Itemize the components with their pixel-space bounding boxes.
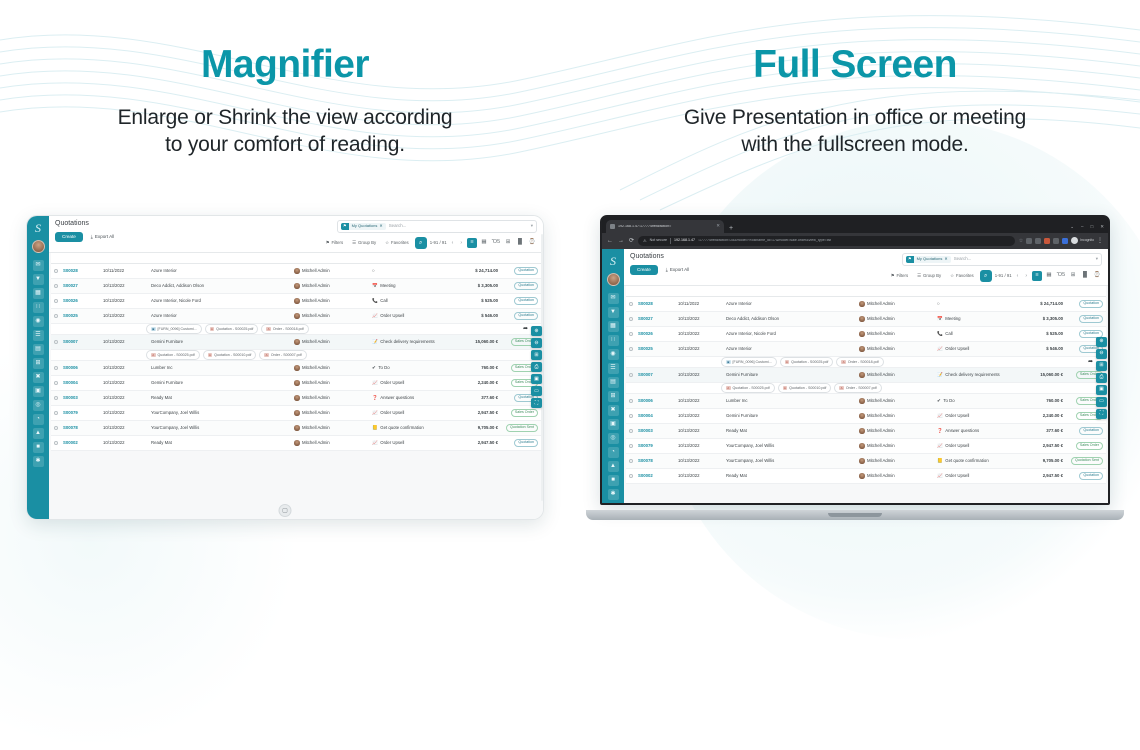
app-sidebar[interactable]: S ✉▼▦∷◉☰▤⊞✖▣◎◔▲■✱ — [602, 249, 624, 505]
group-by-label: Group By — [358, 241, 376, 245]
row-checkbox[interactable] — [629, 474, 638, 478]
sidebar-item-sales[interactable]: ✱ — [33, 456, 44, 467]
cell-number[interactable]: S00027 — [638, 316, 678, 321]
row-checkbox[interactable] — [54, 426, 63, 430]
close-icon[interactable]: ✕ — [379, 224, 382, 228]
cell-next-activity[interactable]: 📈Order Upsell — [372, 440, 450, 445]
sidebar-item-messages[interactable]: ✉ — [33, 260, 44, 271]
attachment-row: AQuotation - S00025.pdfAQuotation - S000… — [626, 383, 1106, 394]
pager: 1-91 / 91 — [995, 274, 1012, 278]
cell-total: $ 525.00 — [450, 298, 498, 303]
list-view-button[interactable]: ≡ — [1032, 271, 1042, 281]
cell-next-activity[interactable]: 📈Order Upsell — [372, 410, 450, 415]
magnifier-toolbar: ⊕⊖⊞⎙▣▭⛶ — [531, 326, 542, 408]
cell-number[interactable]: S00026 — [638, 331, 678, 336]
row-checkbox[interactable] — [54, 314, 63, 318]
search-input[interactable]: Search... — [954, 257, 1093, 261]
control-panel-actions: ⚑ Filters ☰ Group By ☆ Favorites — [337, 237, 537, 249]
row-checkbox[interactable] — [629, 373, 638, 377]
activity-view-button[interactable]: ⌚ — [1092, 271, 1102, 281]
checkbox-icon — [54, 366, 58, 370]
sidebar-item-employees[interactable]: ▲ — [33, 428, 44, 439]
cell-next-activity[interactable]: 📝Check delivery requirements — [937, 372, 1015, 377]
extension-icon[interactable] — [1026, 238, 1032, 244]
kanban-view-button[interactable]: ▦ — [479, 238, 489, 248]
table-row[interactable]: S0002810/11/2022Azure InteriorMitchell A… — [51, 264, 541, 279]
table-row[interactable]: S0000310/13/2022Ready MatMitchell Admin❓… — [626, 424, 1106, 439]
table-row[interactable]: S0002710/13/2022Deco Addict, Addison Ols… — [626, 312, 1106, 327]
pager-next-button[interactable]: › — [1023, 273, 1029, 279]
sidebar-item-contacts[interactable]: ☰ — [33, 330, 44, 341]
cell-next-activity[interactable]: 📒Get quote confirmation — [372, 425, 450, 430]
cell-number[interactable]: S00004 — [638, 413, 678, 418]
zoom-out-button[interactable]: ⊖ — [1096, 349, 1107, 359]
activity-view-button[interactable]: ⌚ — [527, 238, 537, 248]
cell-number[interactable]: S00079 — [638, 443, 678, 448]
cell-total: 15,060.00 € — [1015, 372, 1063, 377]
row-checkbox[interactable] — [54, 284, 63, 288]
grid-size-button[interactable]: ⊞ — [1096, 361, 1107, 371]
activity-icon: 📝 — [372, 340, 378, 345]
print-button[interactable]: ⎙ — [1096, 373, 1107, 383]
salesperson-name: Mitchell Admin — [867, 331, 895, 336]
favorites-button[interactable]: ☆ Favorites — [382, 239, 412, 247]
record-link[interactable]: S00003 — [638, 428, 653, 433]
sidebar-item-inventory[interactable]: ⊞ — [33, 358, 44, 369]
avatar — [294, 283, 300, 289]
graph-view-button[interactable]: █ — [515, 238, 525, 248]
cell-next-activity[interactable]: ❓Answer questions — [372, 395, 450, 400]
browser-url-bar: ← → ⟳ ⚠ Not secure 192.168.1.47 :17777/w… — [602, 233, 1108, 249]
avatar[interactable] — [32, 240, 45, 253]
reload-icon[interactable]: ⟳ — [629, 238, 634, 244]
pager: 1-91 / 91 — [430, 241, 447, 245]
record-link[interactable]: S00026 — [638, 331, 653, 336]
extension-icon[interactable] — [1053, 238, 1059, 244]
cell-status: Quotation — [498, 312, 538, 321]
calendar-view-button[interactable]: Ὄ5 — [1056, 271, 1066, 281]
cell-next-activity[interactable]: 📅Meeting — [372, 283, 450, 288]
screenshot-button[interactable]: ▣ — [531, 374, 542, 384]
magnifier-button[interactable]: ⌕ — [980, 270, 992, 282]
attachment-chip[interactable]: AQuotation - S00010.pdf — [778, 383, 832, 393]
row-checkbox[interactable] — [629, 429, 638, 433]
sidebar-item-inventory[interactable]: ⊞ — [608, 391, 619, 402]
sidebar-item-filter[interactable]: ▼ — [33, 274, 44, 285]
browser-tab[interactable]: 192.168.1.47:17777/web#action= ✕ — [606, 220, 724, 233]
sidebar-item-website[interactable]: ■ — [33, 442, 44, 453]
table-row[interactable]: S0007810/13/2022YourCompany, Joel Willis… — [51, 421, 541, 436]
activity-icon: 📒 — [372, 426, 378, 431]
cell-next-activity[interactable]: 📈Order Upsell — [372, 313, 450, 318]
attachment-chip[interactable]: AQuotation - S00025.pdf — [205, 324, 259, 334]
record-link[interactable]: S00079 — [63, 410, 78, 415]
cell-creation-date: 10/13/2022 — [103, 440, 151, 445]
sidebar-item-documents[interactable]: ▤ — [33, 344, 44, 355]
table-row[interactable]: S0000410/13/2022Gemini FurnitureMitchell… — [51, 376, 541, 391]
search-bar[interactable]: ⚑ My Quotations ✕ Search... ▾ — [337, 220, 537, 233]
activity-icon: 📈 — [372, 314, 378, 319]
table-row[interactable]: S0007810/13/2022YourCompany, Joel Willis… — [626, 454, 1106, 469]
record-link[interactable]: S00027 — [63, 283, 78, 288]
table-row[interactable]: S0002610/13/2022Azure Interior, Nicole F… — [51, 294, 541, 309]
extension-icon[interactable] — [1062, 238, 1068, 244]
group-by-button[interactable]: ☰ Group By — [349, 239, 379, 247]
record-link[interactable]: S00004 — [63, 380, 78, 385]
search-facet-my-quotations[interactable]: ⚑ My Quotations ✕ — [906, 256, 951, 263]
attachment-chip[interactable]: AOrder - S00018.pdf — [836, 357, 883, 367]
row-checkbox[interactable] — [629, 459, 638, 463]
cell-next-activity[interactable]: 📈Order Upsell — [937, 413, 1015, 418]
employees-icon: ▲ — [35, 430, 41, 436]
table-row[interactable]: S0000710/13/2022Gemini FurnitureMitchell… — [626, 368, 1106, 383]
cell-next-activity[interactable]: ✔To Do — [372, 365, 450, 370]
record-link[interactable]: S00006 — [638, 398, 653, 403]
cell-number[interactable]: S00078 — [63, 425, 103, 430]
cell-number[interactable]: S00026 — [63, 298, 103, 303]
activity-icon: 📈 — [937, 414, 943, 419]
favorites-button[interactable]: ☆ Favorites — [947, 272, 977, 280]
checkbox-icon — [629, 459, 633, 463]
url-host: 192.168.1.47 — [674, 239, 695, 243]
record-link[interactable]: S00026 — [63, 298, 78, 303]
attachment-chip[interactable]: AQuotation - S00025.pdf — [721, 383, 775, 393]
row-checkbox[interactable] — [629, 399, 638, 403]
cell-next-activity[interactable]: ○ — [937, 302, 1015, 307]
close-window-icon[interactable]: ✕ — [1100, 225, 1104, 230]
row-checkbox[interactable] — [629, 332, 638, 336]
row-checkbox[interactable] — [54, 441, 63, 445]
sidebar-item-invoicing[interactable]: ◎ — [608, 433, 619, 444]
create-button[interactable]: Create — [630, 265, 658, 276]
cell-customer: Lumber Inc — [726, 398, 859, 403]
maximize-icon[interactable]: □ — [1091, 225, 1094, 230]
cell-creation-date: 10/13/2022 — [678, 473, 726, 478]
cell-creation-date: 10/13/2022 — [103, 425, 151, 430]
cell-next-activity[interactable]: 📒Get quote confirmation — [937, 458, 1015, 463]
sidebar-item-sales[interactable]: ✱ — [608, 489, 619, 500]
table-row[interactable]: S0000210/13/2022Ready MatMitchell Admin📈… — [626, 469, 1106, 484]
sidebar-item-filter[interactable]: ▼ — [608, 307, 619, 318]
cell-status: Quotation — [1063, 472, 1103, 481]
omnibox[interactable]: ⚠ Not secure 192.168.1.47 :17777/web#act… — [638, 236, 1015, 246]
record-link[interactable]: S00007 — [638, 372, 653, 377]
table-row[interactable]: S0007910/13/2022YourCompany, Joel Willis… — [51, 406, 541, 421]
cell-creation-date: 10/13/2022 — [678, 443, 726, 448]
record-link[interactable]: S00002 — [63, 440, 78, 445]
pager-next-button[interactable]: › — [458, 240, 464, 246]
minimize-icon[interactable]: – — [1081, 225, 1084, 230]
cell-next-activity[interactable]: 📅Meeting — [937, 316, 1015, 321]
attachment-chip[interactable]: AOrder - S00018.pdf — [261, 324, 308, 334]
group-by-label: Group By — [923, 274, 941, 278]
create-button[interactable]: Create — [55, 232, 83, 243]
browser-tab-bar: 192.168.1.47:17777/web#action= ✕ + ⌄ – □… — [602, 217, 1108, 233]
sidebar-item-apps[interactable]: ∷ — [608, 335, 619, 346]
pager-prev-button[interactable]: ‹ — [450, 240, 456, 246]
record-link[interactable]: S00006 — [63, 365, 78, 370]
attachment-chip[interactable]: AQuotation - S00025.pdf — [780, 357, 834, 367]
cell-number[interactable]: S00002 — [638, 473, 678, 478]
sidebar-item-calendar[interactable]: ▦ — [33, 288, 44, 299]
search-facet-my-quotations[interactable]: ⚑ My Quotations ✕ — [341, 223, 386, 230]
cell-number[interactable]: S00002 — [63, 440, 103, 445]
zoom-out-button[interactable]: ⊖ — [531, 338, 542, 348]
avatar — [294, 425, 300, 431]
row-checkbox[interactable] — [629, 347, 638, 351]
cell-number[interactable]: S00027 — [63, 283, 103, 288]
sidebar-item-reports[interactable]: ▣ — [608, 419, 619, 430]
chevron-down-icon[interactable]: ▾ — [531, 223, 533, 229]
attachment-chip[interactable]: AQuotation - S00010.pdf — [203, 350, 257, 360]
row-checkbox[interactable] — [629, 317, 638, 321]
settings-icon: ✖ — [610, 407, 615, 413]
browser-nav-buttons: ← → ⟳ — [607, 238, 634, 244]
search-bar[interactable]: ⚑ My Quotations ✕ Search... ▾ — [902, 253, 1102, 266]
row-checkbox[interactable] — [629, 302, 638, 306]
table-row[interactable]: S0000710/13/2022Gemini FurnitureMitchell… — [51, 335, 541, 350]
table-row[interactable]: S0000610/13/2022Lumber IncMitchell Admin… — [51, 361, 541, 376]
salesperson-name: Mitchell Admin — [867, 301, 895, 306]
close-icon[interactable]: ✕ — [716, 224, 720, 229]
close-icon[interactable]: ✕ — [944, 257, 947, 261]
cell-customer: Gemini Furniture — [726, 372, 859, 377]
calendar-view-button[interactable]: Ὄ5 — [491, 238, 501, 248]
extension-icon[interactable] — [1044, 238, 1050, 244]
record-link[interactable]: S00003 — [63, 395, 78, 400]
presentation-button[interactable]: ▭ — [1096, 397, 1107, 407]
record-link[interactable]: S00079 — [638, 443, 653, 448]
sidebar-item-employees[interactable]: ▲ — [608, 461, 619, 472]
checkbox-icon — [629, 347, 633, 351]
activity-label: Order Upsell — [945, 413, 969, 418]
cell-number[interactable]: S00007 — [638, 372, 678, 377]
table-row[interactable]: S0000410/13/2022Gemini FurnitureMitchell… — [626, 409, 1106, 424]
sales-icon: ✱ — [35, 458, 40, 464]
sidebar-item-discuss[interactable]: ◉ — [33, 316, 44, 327]
breadcrumb[interactable]: Quotations — [630, 253, 693, 261]
table-row[interactable]: S0002510/13/2022Azure InteriorMitchell A… — [626, 342, 1106, 357]
record-link[interactable]: S00027 — [638, 316, 653, 321]
avatar[interactable] — [607, 273, 620, 286]
sidebar-item-documents[interactable]: ▤ — [608, 377, 619, 388]
cell-number[interactable]: S00025 — [63, 313, 103, 318]
sidebar-item-settings[interactable]: ✖ — [33, 372, 44, 383]
record-link[interactable]: S00025 — [638, 346, 653, 351]
cell-next-activity[interactable]: 📝Check delivery requirements — [372, 339, 450, 344]
pivot-view-button[interactable]: ⊞ — [1068, 271, 1078, 281]
profile-chip[interactable]: Incognito — [1071, 237, 1094, 244]
pager-prev-button[interactable]: ‹ — [1015, 273, 1021, 279]
filters-button[interactable]: ⚑ Filters — [323, 239, 347, 247]
activity-label: Answer questions — [945, 428, 979, 433]
group-by-button[interactable]: ☰ Group By — [914, 272, 944, 280]
cell-next-activity[interactable]: 📈Order Upsell — [372, 380, 450, 385]
avatar — [294, 313, 300, 319]
record-link[interactable]: S00028 — [63, 268, 78, 273]
checkbox-icon — [629, 302, 633, 306]
table-row[interactable]: S0002710/13/2022Deco Addict, Addison Ols… — [51, 279, 541, 294]
filters-button[interactable]: ⚑ Filters — [888, 272, 912, 280]
cell-next-activity[interactable]: ✔To Do — [937, 398, 1015, 403]
table-row[interactable]: S0002810/11/2022Azure InteriorMitchell A… — [626, 297, 1106, 312]
avatar — [294, 395, 300, 401]
sidebar-item-apps[interactable]: ∷ — [33, 302, 44, 313]
checkbox-icon — [54, 441, 58, 445]
grid-size-button[interactable]: ⊞ — [531, 350, 542, 360]
row-checkbox[interactable] — [54, 366, 63, 370]
feature-subtitle-line2: with the fullscreen mode. — [570, 131, 1140, 159]
salesperson-name: Mitchell Admin — [302, 298, 330, 303]
chevron-down-icon[interactable]: ▾ — [1096, 256, 1098, 262]
row-checkbox[interactable] — [54, 396, 63, 400]
row-checkbox[interactable] — [54, 411, 63, 415]
salesperson-name: Mitchell Admin — [302, 410, 330, 415]
fullscreen-button[interactable]: ⛶ — [531, 398, 542, 408]
avatar — [859, 316, 865, 322]
print-button[interactable]: ⎙ — [531, 362, 542, 372]
zoom-in-button[interactable]: ⊕ — [531, 326, 542, 336]
record-link[interactable]: S00078 — [63, 425, 78, 430]
cell-total: 2,947.50 € — [450, 440, 498, 445]
checkbox-icon — [54, 340, 58, 344]
cell-next-activity[interactable]: 📈Order Upsell — [937, 473, 1015, 478]
star-icon: ☆ — [950, 274, 954, 278]
sidebar-item-settings[interactable]: ✖ — [608, 405, 619, 416]
magnifier-button[interactable]: ⌕ — [415, 237, 427, 249]
export-all-button[interactable]: ⤓ Export All — [87, 232, 118, 243]
table-row[interactable]: S0007910/13/2022YourCompany, Joel Willis… — [626, 439, 1106, 454]
forward-icon[interactable]: → — [618, 238, 624, 244]
search-input[interactable]: Search... — [389, 224, 528, 228]
record-link[interactable]: S00007 — [63, 339, 78, 344]
attachment-chip[interactable]: AQuotation - S00025.pdf — [146, 350, 200, 360]
cell-number[interactable]: S00028 — [63, 268, 103, 273]
cell-total: 2,240.00 € — [1015, 413, 1063, 418]
export-all-button[interactable]: ⤓ Export All — [662, 265, 693, 276]
row-checkbox[interactable] — [54, 269, 63, 273]
activity-label: To Do — [378, 365, 389, 370]
sidebar-item-calendar[interactable]: ▦ — [608, 321, 619, 332]
record-link[interactable]: S00002 — [638, 473, 653, 478]
breadcrumb[interactable]: Quotations — [55, 220, 118, 228]
presentation-button[interactable]: ▭ — [531, 386, 542, 396]
table-row[interactable]: S0002510/13/2022Azure InteriorMitchell A… — [51, 309, 541, 324]
home-indicator[interactable]: ▢ — [279, 504, 292, 517]
cell-next-activity[interactable]: 📈Order Upsell — [937, 346, 1015, 351]
cell-creation-date: 10/13/2022 — [103, 313, 151, 318]
control-panel: Quotations Create ⤓ Export All — [49, 216, 543, 253]
salesperson-name: Mitchell Admin — [867, 428, 895, 433]
record-link[interactable]: S00078 — [638, 458, 653, 463]
cell-next-activity[interactable]: ❓Answer questions — [937, 428, 1015, 433]
bookmark-star-icon[interactable]: ☆ — [1019, 238, 1023, 244]
new-tab-button[interactable]: + — [726, 225, 736, 233]
browser-menu-icon[interactable]: ⋮ — [1097, 238, 1103, 244]
table-row[interactable]: S0000210/13/2022Ready MatMitchell Admin📈… — [51, 436, 541, 451]
cell-number[interactable]: S00003 — [63, 395, 103, 400]
row-checkbox[interactable] — [54, 381, 63, 385]
sidebar-item-crm[interactable]: ◔ — [33, 414, 44, 425]
cell-next-activity[interactable]: 📞Call — [372, 298, 450, 303]
cell-number[interactable]: S00025 — [638, 346, 678, 351]
status-badge: Quotation — [1079, 427, 1103, 436]
cell-next-activity[interactable]: ○ — [372, 269, 450, 274]
row-checkbox[interactable] — [629, 444, 638, 448]
record-link[interactable]: S00004 — [638, 413, 653, 418]
control-panel: Quotations Create ⤓ Export All — [624, 249, 1108, 286]
cell-number[interactable]: S00003 — [638, 428, 678, 433]
cell-number[interactable]: S00006 — [638, 398, 678, 403]
cell-number[interactable]: S00028 — [638, 301, 678, 306]
activity-label: Order Upsell — [380, 410, 404, 415]
row-checkbox[interactable] — [629, 414, 638, 418]
activity-icon: 📝 — [937, 373, 943, 378]
sidebar-item-invoicing[interactable]: ◎ — [33, 400, 44, 411]
sidebar-item-website[interactable]: ■ — [608, 475, 619, 486]
back-icon[interactable]: ← — [607, 238, 613, 244]
sidebar-item-reports[interactable]: ▣ — [33, 386, 44, 397]
cell-total: 2,947.50 € — [450, 410, 498, 415]
cell-creation-date: 10/11/2022 — [103, 268, 151, 273]
app-sidebar[interactable]: S ✉▼▦∷◉☰▤⊞✖▣◎◔▲■✱ — [27, 216, 49, 519]
checkbox-icon — [629, 429, 633, 433]
sidebar-item-discuss[interactable]: ◉ — [608, 349, 619, 360]
attachment-chip[interactable]: ▣[FURN_0096] Customi... — [146, 324, 202, 334]
fullscreen-button[interactable]: ⛶ — [1096, 409, 1107, 419]
cell-number[interactable]: S00004 — [63, 380, 103, 385]
list-header — [626, 286, 1106, 297]
cell-next-activity[interactable]: 📞Call — [937, 331, 1015, 336]
cell-customer: Gemini Furniture — [151, 339, 294, 344]
activity-label: Meeting — [945, 316, 960, 321]
app-logo-icon: S — [606, 254, 621, 269]
graph-view-button[interactable]: █ — [1080, 271, 1090, 281]
sidebar-item-crm[interactable]: ◔ — [608, 447, 619, 458]
cell-number[interactable]: S00079 — [63, 410, 103, 415]
cell-number[interactable]: S00007 — [63, 339, 103, 344]
sidebar-item-messages[interactable]: ✉ — [608, 293, 619, 304]
cell-next-activity[interactable]: 📈Order Upsell — [937, 443, 1015, 448]
kanban-view-button[interactable]: ▦ — [1044, 271, 1054, 281]
list-view-button[interactable]: ≡ — [467, 238, 477, 248]
avatar — [294, 410, 300, 416]
screenshot-button[interactable]: ▣ — [1096, 385, 1107, 395]
attachment-chip[interactable]: ▣[FURN_0096] Customi... — [721, 357, 777, 367]
record-link[interactable]: S00028 — [638, 301, 653, 306]
attachment-chip[interactable]: AOrder - S00007.pdf — [834, 383, 881, 393]
record-link[interactable]: S00025 — [63, 313, 78, 318]
table-row[interactable]: S0000610/13/2022Lumber IncMitchell Admin… — [626, 394, 1106, 409]
attachment-chip[interactable]: AOrder - S00007.pdf — [259, 350, 306, 360]
salesperson-name: Mitchell Admin — [867, 458, 895, 463]
checkbox-icon — [54, 299, 58, 303]
row-checkbox[interactable] — [54, 299, 63, 303]
discuss-icon: ◉ — [610, 351, 615, 357]
table-row[interactable]: S0002610/13/2022Azure Interior, Nicole F… — [626, 327, 1106, 342]
cell-number[interactable]: S00006 — [63, 365, 103, 370]
zoom-in-button[interactable]: ⊕ — [1096, 337, 1107, 347]
row-checkbox[interactable] — [54, 340, 63, 344]
sidebar-item-contacts[interactable]: ☰ — [608, 363, 619, 374]
activity-label: Call — [945, 331, 952, 336]
list-icon: ☰ — [352, 241, 356, 245]
extension-icon[interactable] — [1035, 238, 1041, 244]
chevron-down-icon[interactable]: ⌄ — [1070, 225, 1074, 230]
table-row[interactable]: S0000310/13/2022Ready MatMitchell Admin❓… — [51, 391, 541, 406]
pivot-view-button[interactable]: ⊞ — [503, 238, 513, 248]
cell-number[interactable]: S00078 — [638, 458, 678, 463]
